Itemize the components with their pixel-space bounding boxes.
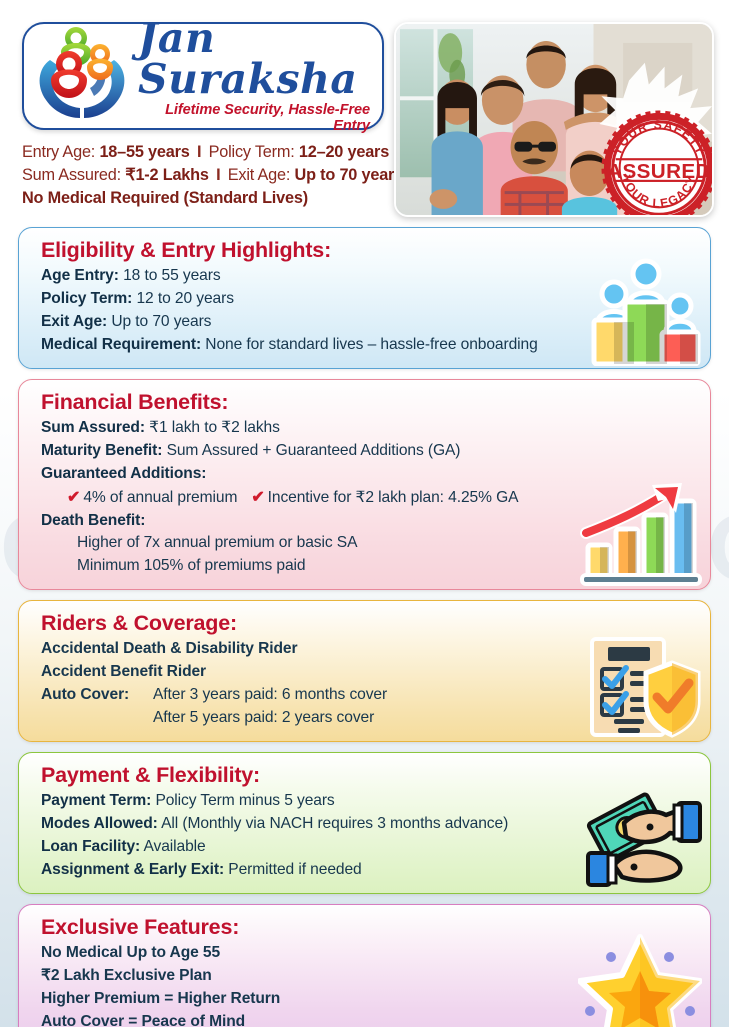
sections-list: Eligibility & Entry Highlights: Age Entr… xyxy=(0,217,729,1027)
auto-cover-row-1: Auto Cover: After 3 years paid: 6 months… xyxy=(41,684,586,707)
header: Jan Suraksha Lifetime Security, Hassle-F… xyxy=(0,0,729,217)
entry-age-label: Entry Age: xyxy=(22,143,95,161)
row-payment-term-value: Policy Term minus 5 years xyxy=(155,792,334,809)
brand-name: Jan Suraksha xyxy=(138,18,374,100)
fact-separator-1: I xyxy=(194,143,204,161)
brand-tagline: Lifetime Security, Hassle-Free Entry xyxy=(138,102,374,134)
row-loan-facility-value: Available xyxy=(143,838,205,855)
section-financial-benefits: Financial Benefits: Sum Assured: ₹1 lakh… xyxy=(18,379,711,591)
growth-bar-chart-arrow-icon xyxy=(578,483,702,587)
row-policy-term: Policy Term: 12 to 20 years xyxy=(41,288,586,311)
section-exclusive-features: Exclusive Features: No Medical Up to Age… xyxy=(18,904,711,1027)
row-modes-allowed-value: All (Monthly via NACH requires 3 months … xyxy=(161,815,508,832)
row-loan-facility: Loan Facility: Available xyxy=(41,836,586,859)
entry-age-value: 18–55 years xyxy=(99,143,189,161)
assured-stamp-icon: YOUR SAFETY YOUR LEGACY ASSURED xyxy=(600,109,714,217)
row-policy-term-value: 12 to 20 years xyxy=(136,290,233,307)
auto-cover-item-1: After 3 years paid: 6 months cover xyxy=(153,684,387,707)
row-sum-assured: Sum Assured: ₹1 lakh to ₹2 lakhs xyxy=(41,417,586,440)
section-eligibility-title: Eligibility & Entry Highlights: xyxy=(41,237,586,264)
row-age-entry-label: Age Entry: xyxy=(41,267,119,284)
exclusive-item-3: Higher Premium = Higher Return xyxy=(41,988,586,1011)
auto-cover-row-2: After 5 years paid: 2 years cover xyxy=(41,707,586,730)
section-riders-coverage-body: Riders & Coverage: Accidental Death & Di… xyxy=(41,610,586,730)
section-eligibility: Eligibility & Entry Highlights: Age Entr… xyxy=(18,227,711,369)
row-policy-term-label: Policy Term: xyxy=(41,290,132,307)
check-icon: ✔ xyxy=(251,489,267,506)
row-age-entry: Age Entry: 18 to 55 years xyxy=(41,265,586,288)
row-assignment-early-exit-label: Assignment & Early Exit: xyxy=(41,861,224,878)
row-exit-age: Exit Age: Up to 70 years xyxy=(41,311,586,334)
policy-term-label: Policy Term: xyxy=(209,143,295,161)
row-modes-allowed: Modes Allowed: All (Monthly via NACH req… xyxy=(41,813,586,836)
death-benefit-item-2: Minimum 105% of premiums paid xyxy=(41,555,586,578)
fact-line-1: Entry Age: 18–55 years I Policy Term: 12… xyxy=(22,141,384,164)
row-modes-allowed-label: Modes Allowed: xyxy=(41,815,158,832)
ga-item-2: ✔Incentive for ₹2 lakh plan: 4.25% GA xyxy=(251,486,518,510)
fact-separator-2: I xyxy=(213,166,223,184)
fact-line-3: No Medical Required (Standard Lives) xyxy=(22,187,384,210)
hands-money-exchange-icon xyxy=(578,787,702,891)
exclusive-item-4: Auto Cover = Peace of Mind xyxy=(41,1011,586,1027)
row-medical-requirement-value: None for standard lives – hassle-free on… xyxy=(205,336,537,353)
rider-item-2: Accident Benefit Rider xyxy=(41,661,586,684)
brand-text: Jan Suraksha Lifetime Security, Hassle-F… xyxy=(136,18,374,134)
auto-cover-spacer xyxy=(41,707,153,730)
section-riders-coverage-title: Riders & Coverage: xyxy=(41,610,586,637)
rider-item-1: Accidental Death & Disability Rider xyxy=(41,638,586,661)
stamp-center-text: ASSURED xyxy=(607,160,711,183)
brand-logo-box: Jan Suraksha Lifetime Security, Hassle-F… xyxy=(22,22,384,130)
ga-item-2-text: Incentive for ₹2 lakh plan: 4.25% GA xyxy=(268,489,519,506)
section-payment-flexibility: Payment & Flexibility: Payment Term: Pol… xyxy=(18,752,711,894)
row-sum-assured-label: Sum Assured: xyxy=(41,419,145,436)
row-maturity-benefit: Maturity Benefit: Sum Assured + Guarante… xyxy=(41,440,586,463)
exclusive-item-1: No Medical Up to Age 55 xyxy=(41,942,586,965)
row-death-benefit-label: Death Benefit: xyxy=(41,512,145,529)
row-payment-term: Payment Term: Policy Term minus 5 years xyxy=(41,790,586,813)
indian-family-photo: YOUR SAFETY YOUR LEGACY ASSURED xyxy=(394,22,714,217)
header-left: Jan Suraksha Lifetime Security, Hassle-F… xyxy=(22,22,384,217)
row-payment-term-label: Payment Term: xyxy=(41,792,151,809)
row-maturity-benefit-value: Sum Assured + Guaranteed Additions (GA) xyxy=(167,442,461,459)
section-payment-flexibility-title: Payment & Flexibility: xyxy=(41,762,586,789)
sum-assured-value: ₹1-2 Lakhs xyxy=(125,166,208,184)
row-guaranteed-additions-label: Guaranteed Additions: xyxy=(41,465,206,482)
row-death-benefit: Death Benefit: xyxy=(41,510,586,533)
header-facts: Entry Age: 18–55 years I Policy Term: 12… xyxy=(22,141,384,210)
row-assignment-early-exit: Assignment & Early Exit: Permitted if ne… xyxy=(41,859,586,882)
auto-cover-item-2: After 5 years paid: 2 years cover xyxy=(153,707,374,730)
row-sum-assured-value: ₹1 lakh to ₹2 lakhs xyxy=(149,419,280,436)
section-payment-flexibility-body: Payment & Flexibility: Payment Term: Pol… xyxy=(41,762,586,882)
section-exclusive-features-title: Exclusive Features: xyxy=(41,914,586,941)
row-exit-age-label: Exit Age: xyxy=(41,313,107,330)
death-benefit-item-1: Higher of 7x annual premium or basic SA xyxy=(41,532,586,555)
gold-star-icon xyxy=(578,927,702,1027)
people-bar-chart-icon xyxy=(584,258,702,366)
ga-item-1: ✔4% of annual premium xyxy=(67,486,237,510)
ga-item-1-text: 4% of annual premium xyxy=(83,489,237,506)
row-assignment-early-exit-value: Permitted if needed xyxy=(228,861,361,878)
exclusive-item-2: ₹2 Lakh Exclusive Plan xyxy=(41,965,586,988)
policy-term-value: 12–20 years xyxy=(299,143,389,161)
hands-holding-family-icon xyxy=(30,22,136,122)
exit-age-value: Up to 70 years xyxy=(295,166,404,184)
row-medical-requirement-label: Medical Requirement: xyxy=(41,336,201,353)
row-age-entry-value: 18 to 55 years xyxy=(123,267,220,284)
check-icon: ✔ xyxy=(67,489,83,506)
row-maturity-benefit-label: Maturity Benefit: xyxy=(41,442,162,459)
guaranteed-additions-items: ✔4% of annual premium ✔Incentive for ₹2 … xyxy=(41,486,586,510)
fact-line-2: Sum Assured: ₹1-2 Lakhs I Exit Age: Up t… xyxy=(22,164,384,187)
row-guaranteed-additions: Guaranteed Additions: xyxy=(41,463,586,486)
section-exclusive-features-body: Exclusive Features: No Medical Up to Age… xyxy=(41,914,586,1027)
sum-assured-label: Sum Assured: xyxy=(22,166,121,184)
row-medical-requirement: Medical Requirement: None for standard l… xyxy=(41,334,586,357)
section-riders-coverage: Riders & Coverage: Accidental Death & Di… xyxy=(18,600,711,742)
checklist-shield-icon xyxy=(584,635,702,739)
section-financial-benefits-body: Financial Benefits: Sum Assured: ₹1 lakh… xyxy=(41,389,586,579)
row-loan-facility-label: Loan Facility: xyxy=(41,838,140,855)
section-financial-benefits-title: Financial Benefits: xyxy=(41,389,586,416)
section-eligibility-body: Eligibility & Entry Highlights: Age Entr… xyxy=(41,237,586,357)
auto-cover-label: Auto Cover: xyxy=(41,684,153,707)
exit-age-label: Exit Age: xyxy=(228,166,290,184)
row-exit-age-value: Up to 70 years xyxy=(111,313,211,330)
